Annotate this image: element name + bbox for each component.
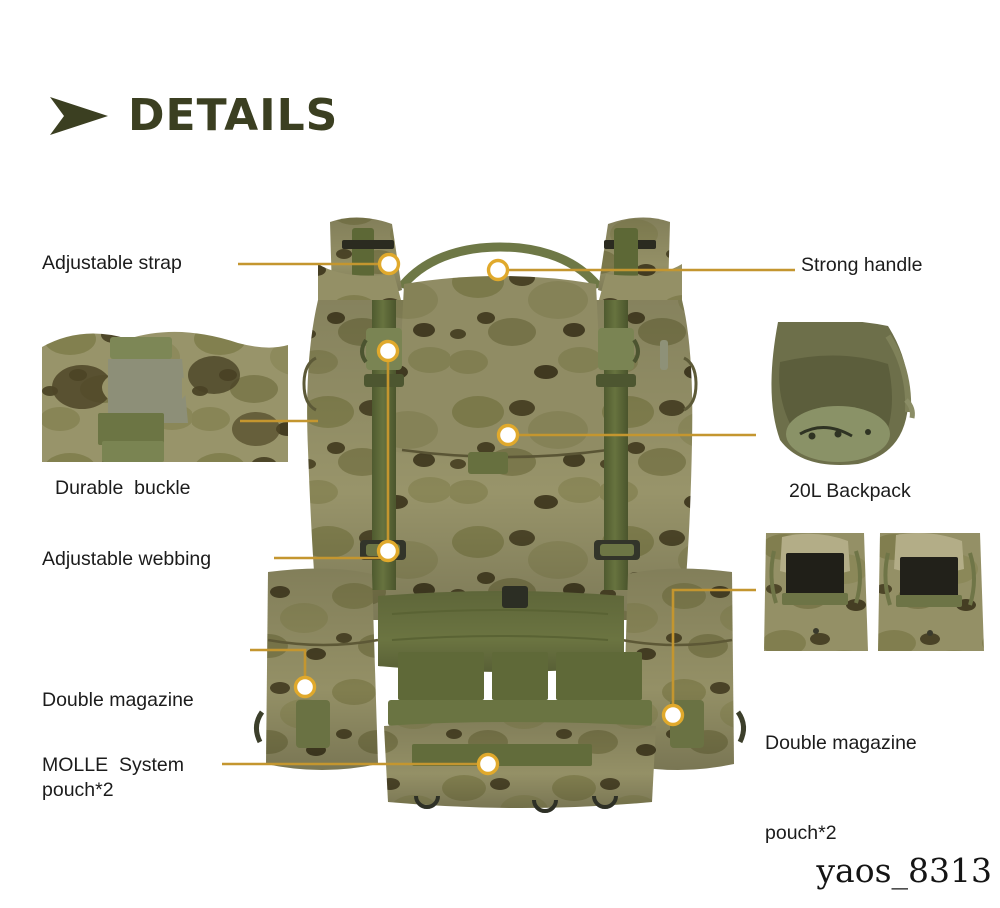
leader-double-magazine-right [673,590,756,715]
label-double-magazine-right-line1: Double magazine [765,728,917,758]
label-adjustable-strap: Adjustable strap [42,250,182,276]
dot-double-magazine-left [296,678,315,697]
dot-webbing-buckle [379,542,398,561]
caption-durable-buckle: Durable buckle [55,475,191,501]
dot-double-magazine-right [664,706,683,725]
leader-adjustable-webbing [274,351,388,558]
label-strong-handle: Strong handle [801,252,922,278]
watermark: yaos_8313 [816,851,992,890]
details-infographic: DETAILS [0,0,1000,896]
dot-molle-system [479,755,498,774]
dot-strong-handle [489,261,508,280]
dot-adjustable-strap [380,255,399,274]
label-double-magazine-left: Double magazine pouch*2 [42,625,194,865]
dot-20l-backpack [499,426,518,445]
label-double-magazine-left-line2: pouch*2 [42,775,194,805]
label-adjustable-webbing: Adjustable webbing [42,546,211,572]
caption-20l-backpack: 20L Backpack [789,478,911,504]
label-double-magazine-right-line2: pouch*2 [765,818,917,848]
dot-adjustable-webbing [379,342,398,361]
label-molle-system: MOLLE System [42,752,184,778]
label-double-magazine-left-line1: Double magazine [42,685,194,715]
callout-dots [296,255,683,774]
